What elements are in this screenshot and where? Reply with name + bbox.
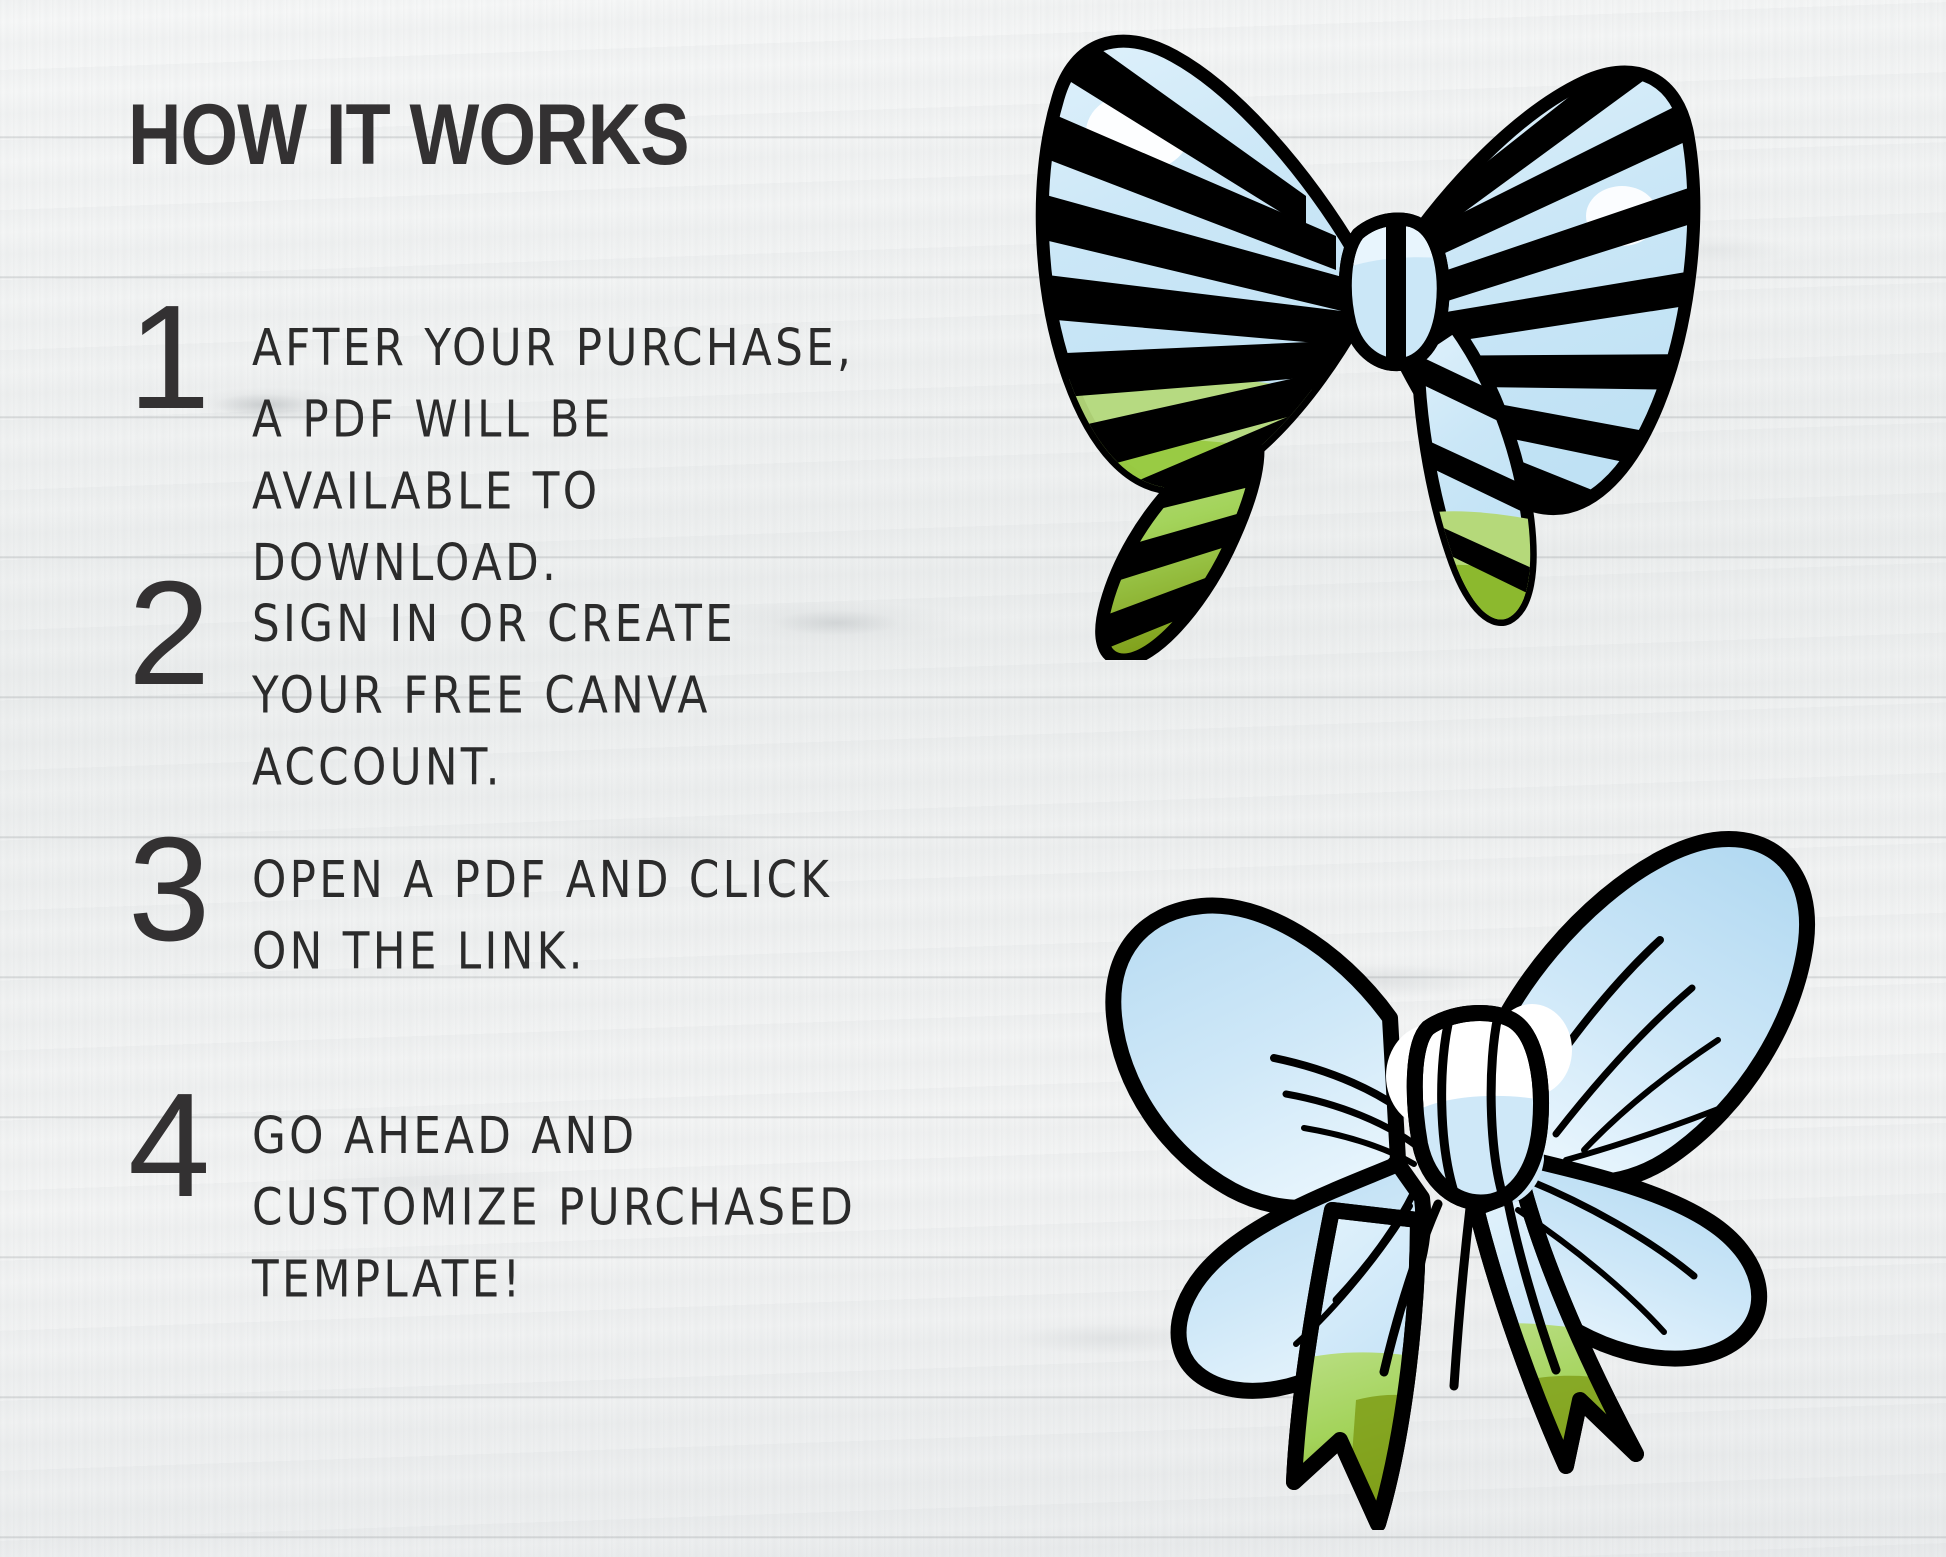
steps-list: 1 After your purchase, a PDF will be ava… bbox=[0, 290, 1000, 1334]
solid-bow-left-upper-loop bbox=[1113, 905, 1398, 1207]
step-text-1: After your purchase, a PDF will be avail… bbox=[252, 290, 873, 599]
step-number-1: 1 bbox=[128, 290, 252, 426]
solid-bow-knot bbox=[1415, 1013, 1544, 1207]
step-number-4: 4 bbox=[128, 1078, 252, 1214]
step-item-2: 2 Sign in or create your free Canva acco… bbox=[0, 566, 1000, 796]
step-number-2: 2 bbox=[128, 566, 252, 702]
bow-illustrations-region bbox=[886, 0, 1946, 1557]
step-number-3: 3 bbox=[128, 822, 252, 958]
step-text-4: Go ahead and customize purchased templat… bbox=[252, 1078, 873, 1315]
step-text-3: Open a PDF and click on the link. bbox=[252, 822, 873, 988]
step-item-3: 3 Open a PDF and click on the link. bbox=[0, 822, 1000, 1052]
step-item-1: 1 After your purchase, a PDF will be ava… bbox=[0, 290, 1000, 540]
content-column: HOW IT WORKS 1 After your purchase, a PD… bbox=[0, 0, 1000, 1557]
striped-bow-left-tail bbox=[1076, 450, 1286, 660]
step-item-4: 4 Go ahead and customize purchased templ… bbox=[0, 1078, 1000, 1308]
page-title: HOW IT WORKS bbox=[128, 92, 689, 178]
step-text-2: Sign in or create your free Canva accoun… bbox=[252, 566, 873, 803]
solid-bow-illustration bbox=[1046, 740, 1846, 1530]
striped-bow-illustration bbox=[906, 20, 1706, 660]
